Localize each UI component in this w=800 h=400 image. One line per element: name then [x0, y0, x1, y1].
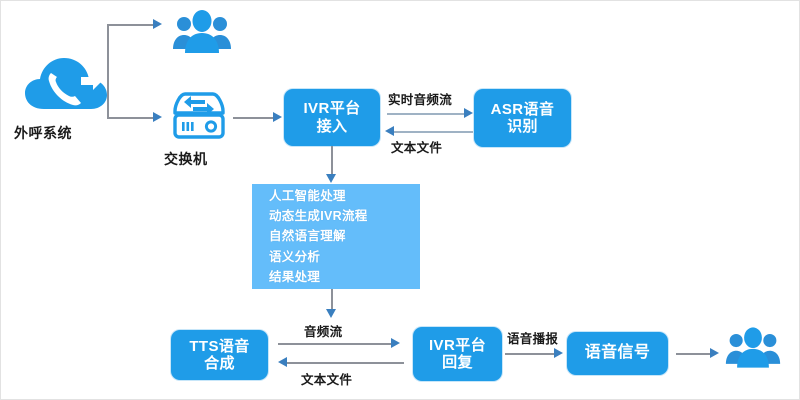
arrowhead-ai-to-bottom-row — [326, 309, 336, 318]
connector-switch-to-ivr-access — [233, 117, 275, 119]
people-group-icon-bottom — [724, 326, 782, 370]
ivr-access-box[interactable]: IVR平台 接入 — [284, 89, 380, 146]
connector-cloud-branch-vertical — [107, 25, 109, 118]
arrowhead-tts-to-ivr-reply — [391, 338, 400, 348]
ivr-reply-line2: 回复 — [429, 354, 486, 371]
connector-ivr-reply-to-voice-signal — [505, 353, 559, 355]
connector-voice-signal-to-customers — [676, 353, 714, 355]
ivr-reply-box[interactable]: IVR平台 回复 — [413, 327, 502, 381]
arrowhead-ivr-reply-to-voice-signal — [554, 348, 563, 358]
asr-line1: ASR语音 — [491, 101, 555, 118]
ai-line-3: 自然语言理解 — [269, 226, 420, 246]
outbound-system-label: 外呼系统 — [14, 123, 72, 143]
arrowhead-to-agents — [153, 19, 162, 29]
ai-line-5: 结果处理 — [269, 267, 420, 287]
connector-asr-to-ivr-access — [393, 131, 473, 133]
ai-line-1: 人工智能处理 — [269, 186, 420, 206]
arrowhead-switch-to-ivr-access — [273, 112, 282, 122]
arrowhead-voice-signal-to-customers — [710, 348, 719, 358]
arrowhead-ivr-access-to-asr — [464, 108, 473, 118]
edge-label-audio-stream: 音频流 — [304, 321, 342, 340]
connector-to-switch — [107, 117, 155, 119]
ivr-reply-line1: IVR平台 — [429, 337, 486, 354]
switch-label: 交换机 — [164, 149, 208, 169]
ai-line-4: 语义分析 — [269, 247, 420, 267]
asr-line2: 识别 — [491, 118, 555, 135]
people-group-icon-top — [171, 9, 233, 55]
edge-label-realtime-audio-stream: 实时音频流 — [388, 89, 452, 108]
connector-ivr-access-to-asr — [387, 113, 469, 115]
arrowhead-to-switch — [153, 112, 162, 122]
ivr-access-line2: 接入 — [303, 118, 360, 135]
connector-to-agents — [107, 24, 155, 26]
arrowhead-ivr-access-to-ai — [326, 174, 336, 183]
tts-line2: 合成 — [189, 355, 249, 372]
cloud-phone-icon — [23, 53, 109, 117]
ai-processing-box[interactable]: 人工智能处理 动态生成IVR流程 自然语言理解 语义分析 结果处理 — [252, 184, 420, 289]
diagram-canvas: 外呼系统 交换机 IVR平 — [0, 0, 800, 400]
connector-ivr-access-to-ai — [331, 146, 333, 176]
edge-label-text-file-top: 文本文件 — [391, 137, 442, 156]
ai-line-2: 动态生成IVR流程 — [269, 206, 420, 226]
tts-box[interactable]: TTS语音 合成 — [171, 330, 268, 380]
asr-box[interactable]: ASR语音 识别 — [474, 89, 571, 147]
connector-tts-to-ivr-reply — [278, 343, 396, 345]
connector-ai-to-bottom-row — [331, 289, 333, 311]
edge-label-text-file-bottom: 文本文件 — [301, 369, 352, 388]
connector-ivr-reply-to-tts — [286, 362, 404, 364]
network-switch-icon — [169, 89, 229, 145]
arrowhead-asr-to-ivr-access — [385, 126, 394, 136]
voice-signal-line1: 语音信号 — [585, 344, 651, 363]
ivr-access-line1: IVR平台 — [303, 100, 360, 117]
edge-label-voice-broadcast: 语音播报 — [507, 328, 558, 347]
voice-signal-box[interactable]: 语音信号 — [567, 332, 668, 375]
tts-line1: TTS语音 — [189, 338, 249, 355]
arrowhead-ivr-reply-to-tts — [278, 357, 287, 367]
